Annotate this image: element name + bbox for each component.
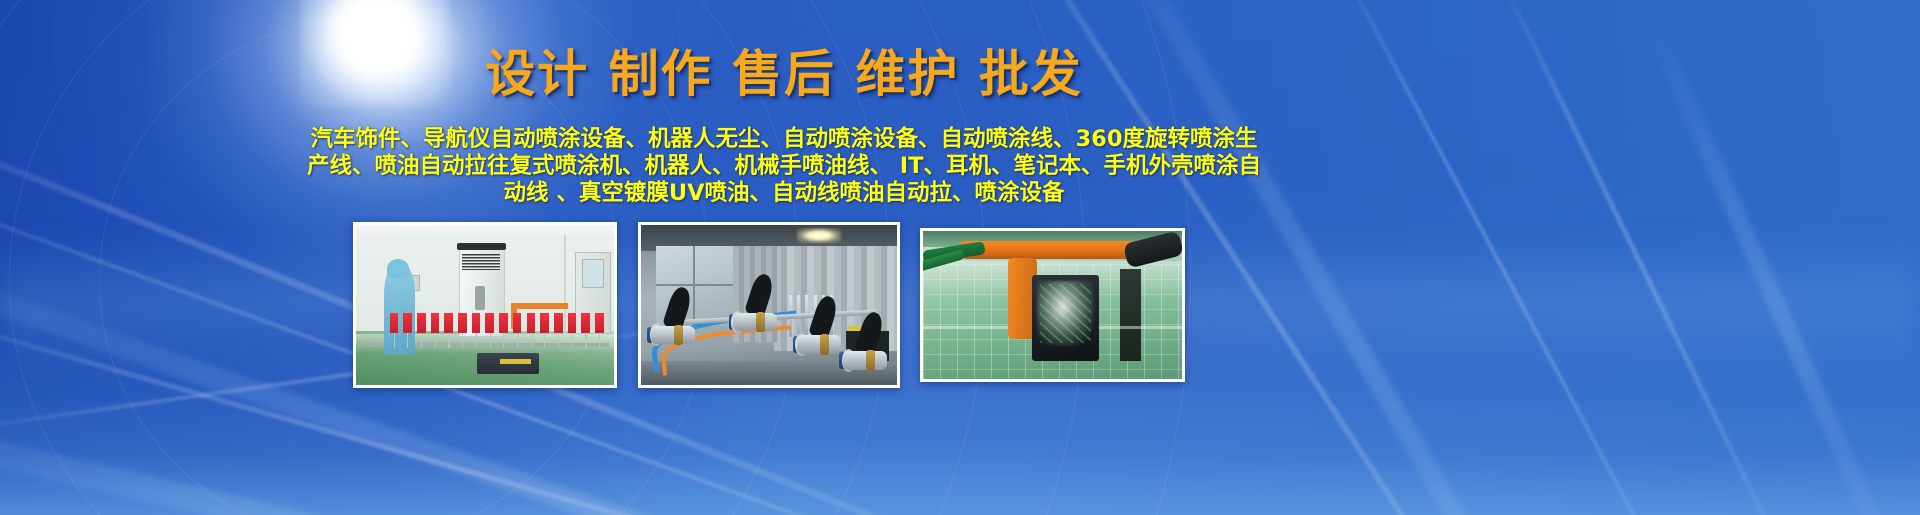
photo-2-image bbox=[641, 225, 897, 385]
photo-3-image bbox=[923, 231, 1182, 379]
subtitle-block: 汽车饰件、导航仪自动喷涂设备、机器人无尘、自动喷涂设备、自动喷涂线、360度旋转… bbox=[0, 126, 1568, 207]
subtitle-line-2: 产线、喷油自动拉往复式喷涂机、机器人、机械手喷油线、 IT、耳机、笔记本、手机外… bbox=[0, 153, 1568, 180]
photo-robot-arm-booth[interactable] bbox=[920, 228, 1185, 382]
promo-banner: 设计 制作 售后 维护 批发 汽车饰件、导航仪自动喷涂设备、机器人无尘、自动喷涂… bbox=[0, 0, 1920, 515]
page-title: 设计 制作 售后 维护 批发 bbox=[0, 49, 1568, 99]
photo-1-image bbox=[356, 225, 614, 385]
photo-spray-guns-booth[interactable] bbox=[638, 222, 900, 388]
subtitle-line-1: 汽车饰件、导航仪自动喷涂设备、机器人无尘、自动喷涂设备、自动喷涂线、360度旋转… bbox=[0, 126, 1568, 153]
photo-cleanroom-conveyor[interactable] bbox=[353, 222, 617, 388]
banner-content: 设计 制作 售后 维护 批发 汽车饰件、导航仪自动喷涂设备、机器人无尘、自动喷涂… bbox=[0, 0, 1920, 515]
subtitle-line-3: 动线 、真空镀膜UV喷油、自动线喷油自动拉、喷涂设备 bbox=[0, 180, 1568, 207]
